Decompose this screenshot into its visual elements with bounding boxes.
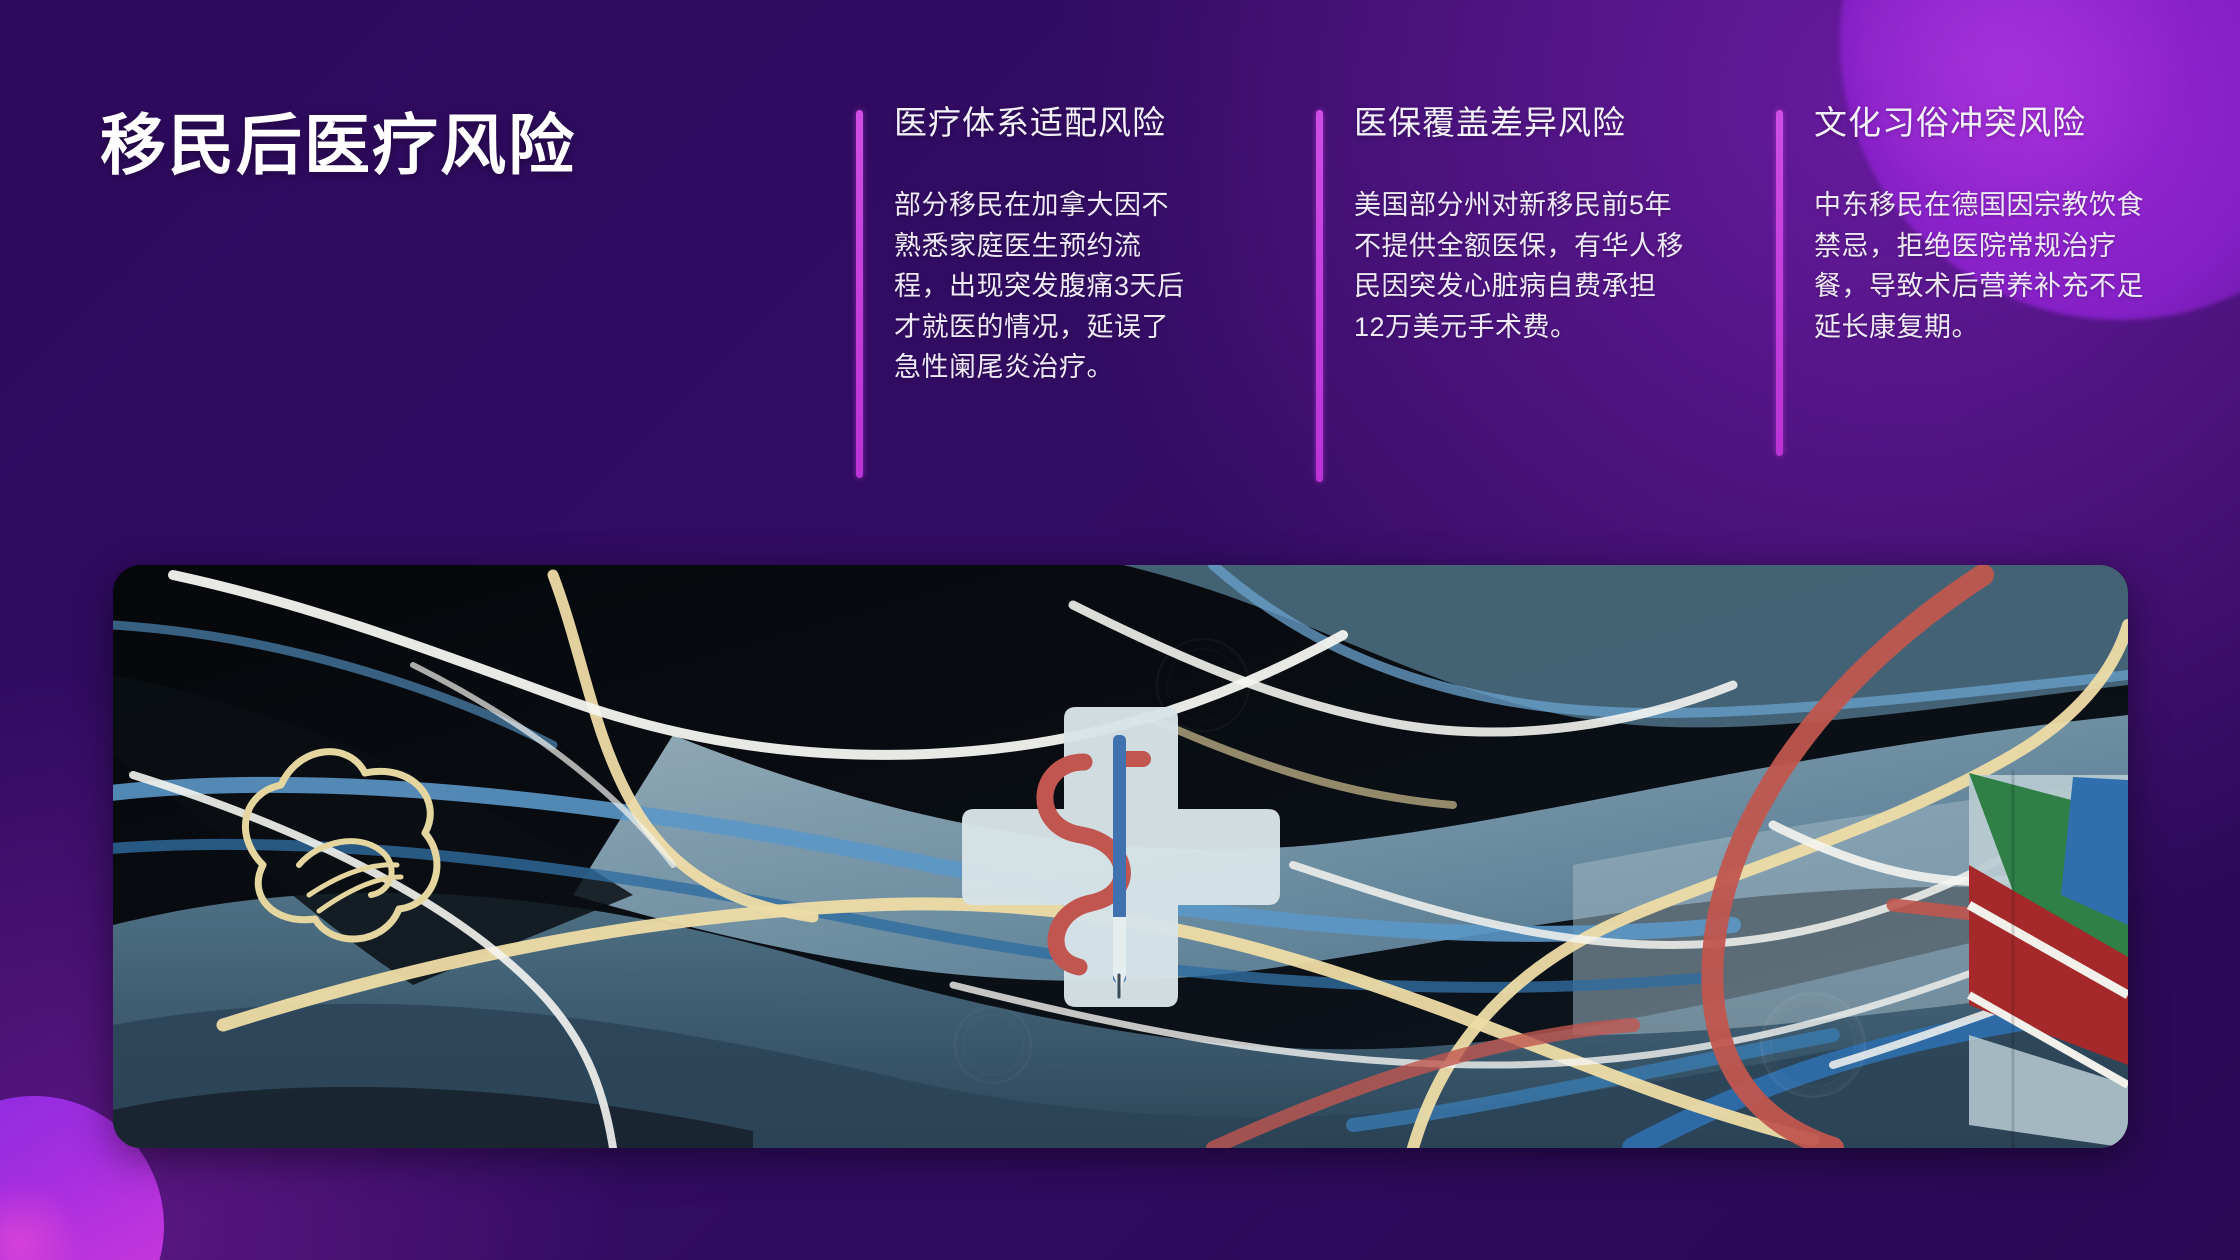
risk-body-3: 中东移民在德国因宗教饮食禁忌，拒绝医院常规治疗餐，导致术后营养补充不足延长康复期…: [1814, 185, 2144, 347]
risk-heading-2: 医保覆盖差异风险: [1354, 102, 1684, 143]
risk-heading-3: 文化习俗冲突风险: [1814, 102, 2144, 143]
risk-column-1-body: 医疗体系适配风险 部分移民在加拿大因不熟悉家庭医生预约流程，出现突发腹痛3天后才…: [894, 102, 1194, 388]
accent-bar-3: [1776, 110, 1783, 456]
page-title: 移民后医疗风险: [100, 92, 576, 188]
slide-root: 移民后医疗风险 医疗体系适配风险 部分移民在加拿大因不熟悉家庭医生预约流程，出现…: [0, 0, 2240, 1260]
risk-heading-1: 医疗体系适配风险: [894, 102, 1194, 143]
risk-body-2: 美国部分州对新移民前5年不提供全额医保，有华人移民因突发心脏病自费承担12万美元…: [1354, 185, 1684, 347]
header-region: 移民后医疗风险 医疗体系适配风险 部分移民在加拿大因不熟悉家庭医生预约流程，出现…: [0, 0, 2240, 520]
accent-bar-1: [856, 110, 863, 478]
risk-column-3-body: 文化习俗冲突风险 中东移民在德国因宗教饮食禁忌，拒绝医院常规治疗餐，导致术后营养…: [1814, 102, 2144, 347]
decorative-glow-bottom-left: [0, 1184, 80, 1260]
artwork-card: [113, 565, 2128, 1148]
risk-body-1: 部分移民在加拿大因不熟悉家庭医生预约流程，出现突发腹痛3天后才就医的情况，延误了…: [894, 185, 1194, 388]
art-flag-bands: [1969, 770, 2128, 1148]
accent-bar-2: [1316, 110, 1323, 482]
abstract-medical-map-illustration: [113, 565, 2128, 1148]
risk-column-2-body: 医保覆盖差异风险 美国部分州对新移民前5年不提供全额医保，有华人移民因突发心脏病…: [1354, 102, 1684, 347]
